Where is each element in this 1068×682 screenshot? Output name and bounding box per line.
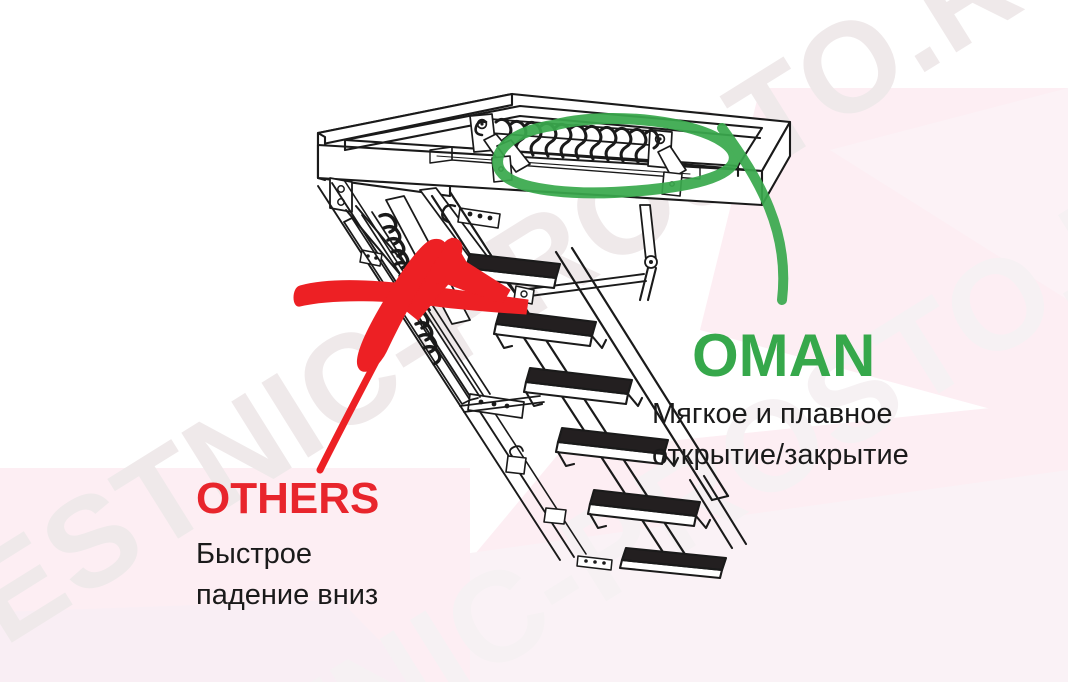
others-heading: OTHERS xyxy=(196,477,379,521)
others-subtitle-line-1: Быстрое xyxy=(196,534,378,575)
oman-subtitle: Мягкое и плавное открытие/закрытие xyxy=(652,394,909,476)
others-subtitle: Быстрое падение вниз xyxy=(196,534,378,616)
oman-heading: OMAN xyxy=(692,326,875,386)
text-layer: OMAN Мягкое и плавное открытие/закрытие … xyxy=(0,0,1068,682)
others-subtitle-line-2: падение вниз xyxy=(196,575,378,616)
oman-subtitle-line-2: открытие/закрытие xyxy=(652,435,909,476)
oman-subtitle-line-1: Мягкое и плавное xyxy=(652,394,909,435)
infographic-canvas: LESTNIC-PROSTO.RU LESTNIC-PROSTO.RU xyxy=(0,0,1068,682)
